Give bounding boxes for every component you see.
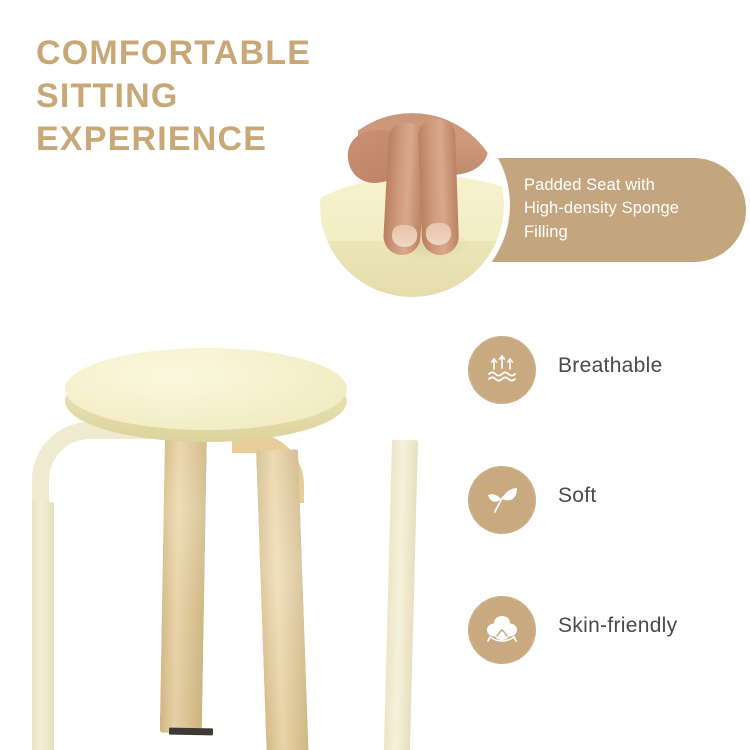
stool-leg-center-left xyxy=(160,433,207,734)
feature-label: Breathable xyxy=(558,354,663,378)
hand-pressing-seat-photo xyxy=(315,108,509,302)
feature-item-breathable: Breathable xyxy=(468,336,750,466)
stool-seat-top xyxy=(65,348,347,430)
inset-photo-content xyxy=(320,113,504,297)
feature-list: Breathable Soft xyxy=(468,336,750,726)
cotton-skin-friendly-icon xyxy=(468,596,536,664)
stool-foot-pad-center-left xyxy=(169,728,213,736)
feature-item-skin-friendly: Skin-friendly xyxy=(468,596,750,726)
feature-label: Soft xyxy=(558,484,597,508)
leaf-soft-icon xyxy=(468,466,536,534)
stool-leg-right xyxy=(383,440,418,750)
breathable-icon xyxy=(468,336,536,404)
feature-item-soft: Soft xyxy=(468,466,750,596)
feature-label: Skin-friendly xyxy=(558,614,677,638)
stool-leg-left xyxy=(32,502,54,750)
product-feature-banner: COMFORTABLE SITTING EXPERIENCE Padded Se… xyxy=(0,0,750,750)
callout-badge-label: Padded Seat with High-density Sponge Fil… xyxy=(524,174,738,244)
